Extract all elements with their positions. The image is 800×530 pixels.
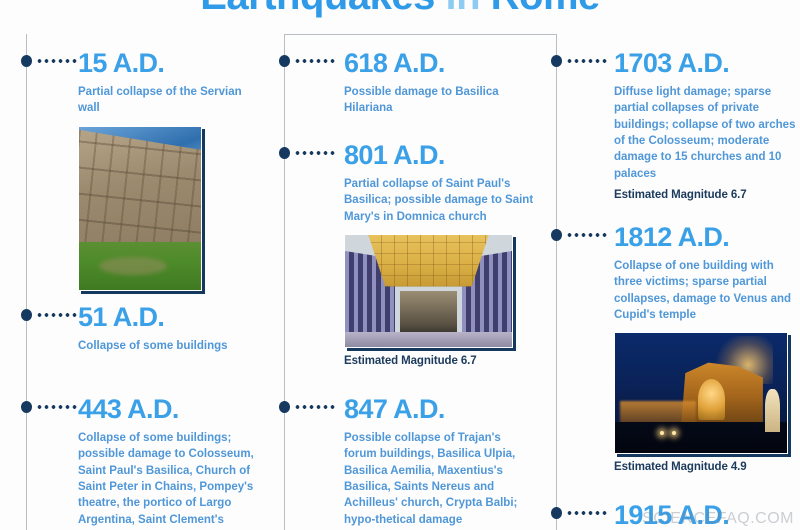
event-description: Possible collapse of Trajan's forum buil… bbox=[344, 430, 536, 528]
dashed-leader-icon bbox=[294, 151, 336, 155]
saint-pauls-basilica-photo bbox=[344, 234, 513, 348]
event-description: Collapse of some buildings; possible dam… bbox=[78, 430, 262, 530]
venus-cupid-temple-night-photo bbox=[614, 332, 788, 454]
event-year: 1812 A.D. bbox=[614, 224, 798, 251]
photo-pillar bbox=[765, 389, 780, 432]
page-title-part3: Rome bbox=[491, 0, 600, 18]
event-801-ad[interactable]: 801 A.D. Partial collapse of Saint Paul'… bbox=[284, 142, 536, 367]
photo-dirt-patch bbox=[99, 257, 167, 275]
dashed-leader-icon bbox=[36, 313, 78, 317]
event-description: Diffuse light damage; sparse partial col… bbox=[614, 84, 798, 182]
photo-apse bbox=[400, 291, 457, 336]
page-title-part2: in bbox=[435, 0, 491, 18]
event-description: Collapse of some buildings bbox=[78, 338, 262, 354]
event-1812-ad[interactable]: 1812 A.D. Collapse of one building with … bbox=[556, 224, 798, 473]
event-magnitude: Estimated Magnitude 6.7 bbox=[614, 189, 798, 201]
photo-floor bbox=[345, 332, 512, 347]
event-description: Partial collapse of Saint Paul's Basilic… bbox=[344, 176, 536, 225]
event-year: 618 A.D. bbox=[344, 50, 536, 77]
event-year: 51 A.D. bbox=[78, 304, 262, 331]
event-443-ad[interactable]: 443 A.D. Collapse of some buildings; pos… bbox=[26, 396, 262, 530]
event-1703-ad[interactable]: 1703 A.D. Diffuse light damage; sparse p… bbox=[556, 50, 798, 201]
timeline-node-icon bbox=[551, 55, 562, 67]
page-title: Earthquakes in Rome bbox=[0, 0, 800, 19]
event-year: 443 A.D. bbox=[78, 396, 262, 423]
photo-content bbox=[345, 235, 512, 347]
photo-content bbox=[615, 333, 787, 453]
event-year: 1915 A.D. bbox=[614, 502, 798, 529]
event-year: 847 A.D. bbox=[344, 396, 536, 423]
event-847-ad[interactable]: 847 A.D. Possible collapse of Trajan's f… bbox=[284, 396, 536, 528]
event-618-ad[interactable]: 618 A.D. Possible damage to Basilica Hil… bbox=[284, 50, 536, 117]
event-year: 801 A.D. bbox=[344, 142, 536, 169]
dashed-leader-icon bbox=[36, 405, 78, 409]
dashed-leader-icon bbox=[566, 59, 608, 63]
event-magnitude: Estimated Magnitude 4.9 bbox=[614, 461, 798, 473]
photo-ceiling-coffers bbox=[368, 235, 488, 287]
event-magnitude: Estimated Magnitude 6.7 bbox=[344, 355, 536, 367]
timeline-node-icon bbox=[279, 147, 290, 159]
event-15-ad[interactable]: 15 A.D. Partial collapse of the Servian … bbox=[26, 50, 262, 291]
timeline-node-icon bbox=[21, 55, 32, 67]
timeline-node-icon bbox=[279, 401, 290, 413]
event-51-ad[interactable]: 51 A.D. Collapse of some buildings bbox=[26, 304, 262, 354]
timeline-node-icon bbox=[21, 401, 32, 413]
timeline-column-1: 15 A.D. Partial collapse of the Servian … bbox=[0, 34, 266, 530]
photo-content bbox=[79, 127, 201, 290]
event-description: Possible damage to Basilica Hilariana bbox=[344, 84, 536, 117]
timeline-column-2: 618 A.D. Possible damage to Basilica Hil… bbox=[266, 34, 538, 530]
photo-stone-wall bbox=[79, 130, 201, 247]
servian-wall-photo bbox=[78, 126, 202, 291]
photo-foreground bbox=[615, 422, 787, 453]
dashed-leader-icon bbox=[294, 405, 336, 409]
dashed-leader-icon bbox=[566, 511, 608, 515]
dashed-leader-icon bbox=[36, 59, 78, 63]
dashed-leader-icon bbox=[566, 233, 608, 237]
timeline-column-3: 1703 A.D. Diffuse light damage; sparse p… bbox=[538, 34, 800, 530]
event-description: Collapse of one building with three vict… bbox=[614, 258, 798, 323]
timeline-node-icon bbox=[551, 507, 562, 519]
event-year: 1703 A.D. bbox=[614, 50, 798, 77]
event-description: Partial collapse of the Servian wall bbox=[78, 84, 262, 117]
dashed-leader-icon bbox=[294, 59, 336, 63]
timeline-node-icon bbox=[279, 55, 290, 67]
event-year: 15 A.D. bbox=[78, 50, 262, 77]
page-title-part1: Earthquakes bbox=[200, 0, 435, 18]
timeline-node-icon bbox=[21, 309, 32, 321]
photo-lit-arch bbox=[698, 379, 726, 420]
event-1915-ad[interactable]: 1915 A.D. bbox=[556, 502, 798, 530]
timeline-node-icon bbox=[551, 229, 562, 241]
infographic-page: Earthquakes in Rome 15 A.D. Partial coll… bbox=[0, 0, 800, 530]
